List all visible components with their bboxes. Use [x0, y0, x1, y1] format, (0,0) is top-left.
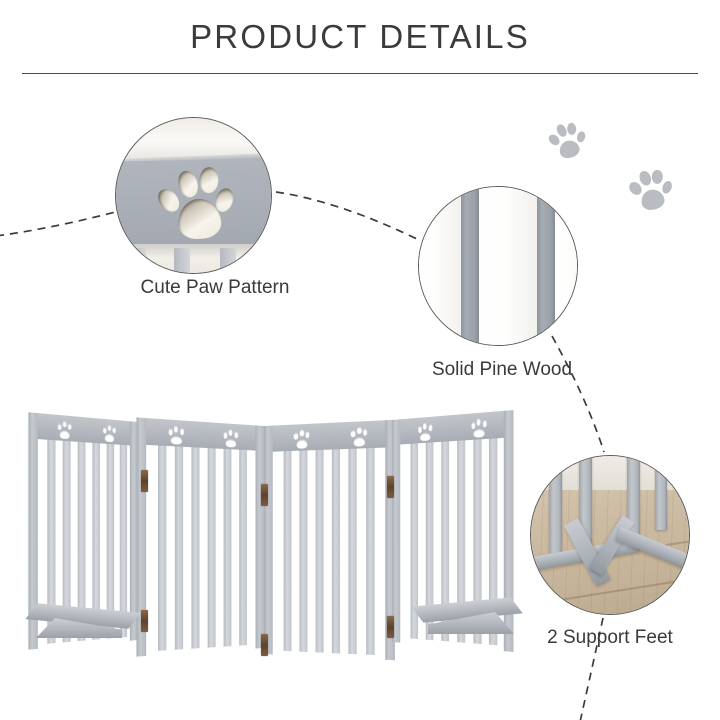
paw-icon	[291, 428, 311, 449]
gate-panel-2	[136, 417, 264, 656]
slat	[655, 455, 667, 530]
slat	[549, 455, 562, 556]
callout-caption-support-feet: 2 Support Feet	[510, 627, 710, 649]
paw-icon	[157, 164, 236, 245]
product-details-infographic: PRODUCT DETAILS	[0, 0, 720, 720]
callout-image-pine-wood	[418, 186, 578, 346]
hinge	[141, 470, 148, 492]
hinge	[387, 616, 394, 638]
slat	[461, 186, 479, 346]
gate-panel-3	[264, 420, 395, 660]
slat	[537, 186, 555, 346]
hinge	[141, 610, 148, 632]
paw-print-icon-2	[623, 163, 677, 218]
paw-icon	[166, 424, 186, 445]
slat	[220, 248, 236, 274]
paw-icon	[56, 419, 74, 439]
paw-icon	[222, 427, 241, 447]
paw-icon	[416, 421, 434, 442]
hinge	[261, 634, 268, 656]
callout-image-support-feet	[530, 455, 690, 615]
connector-circle2-to-circle3	[552, 336, 604, 452]
page-title: PRODUCT DETAILS	[0, 18, 720, 56]
hinge	[261, 484, 268, 506]
callout-caption-paw-pattern: Cute Paw Pattern	[95, 277, 335, 299]
callout-image-paw-pattern	[115, 117, 272, 274]
paw-icon	[101, 423, 118, 443]
paw-icon	[469, 416, 489, 438]
title-divider	[22, 73, 698, 74]
callout-caption-pine-wood: Solid Pine Wood	[382, 359, 622, 381]
product-image-pet-gate	[18, 412, 538, 664]
slat	[174, 248, 190, 274]
connector-circle1-to-circle2	[276, 192, 419, 240]
hinge	[387, 476, 394, 498]
paw-icon	[348, 425, 369, 447]
slat	[130, 248, 146, 274]
paw-print-icon-1	[543, 117, 592, 167]
